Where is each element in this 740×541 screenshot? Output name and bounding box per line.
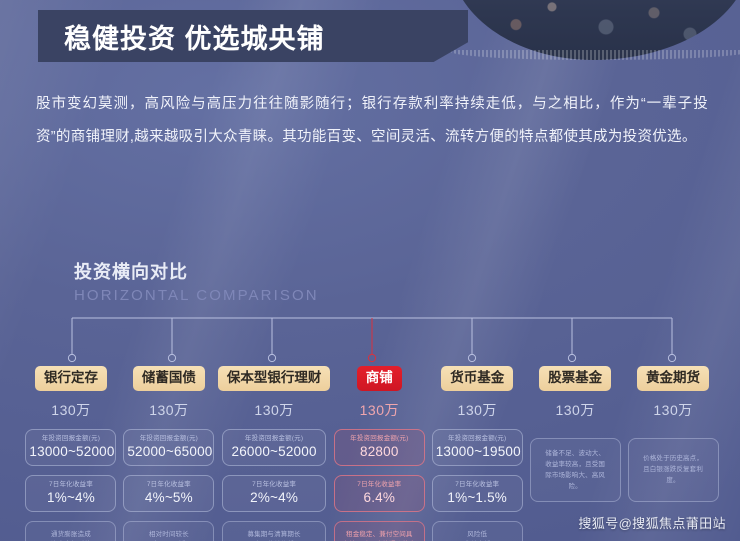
annual-return-value: 13000~52000: [29, 443, 112, 460]
yield-rate-value: 4%~5%: [127, 489, 210, 506]
note-text: 租金稳定、兼付空间具 有抗风险、高抗通胀能力: [343, 530, 416, 541]
connector-node: [468, 354, 475, 361]
connector-node: [68, 354, 75, 361]
yield-rate-label: 7日年化收益率: [338, 480, 421, 489]
comparison-column: 保本型银行理财130万年投资回报金额(元)26000~520007日年化收益率2…: [218, 366, 331, 541]
column-header-chip[interactable]: 储蓄国债: [133, 366, 205, 391]
comparison-column: 银行定存130万年投资回报金额(元)13000~520007日年化收益率1%~4…: [22, 366, 120, 541]
principal-amount: 130万: [360, 400, 399, 420]
annual-return-cell: 年投资回报金额(元)82800: [334, 429, 425, 466]
principal-amount: 130万: [254, 400, 293, 420]
principal-amount: 130万: [51, 400, 90, 420]
column-header-chip[interactable]: 货币基金: [441, 366, 513, 391]
note-box: 募集期与清算期长 实际收益偏低: [222, 521, 327, 541]
yield-rate-cell: 7日年化收益率6.4%: [334, 475, 425, 512]
note-text: 价格处于历史高点， 且白银涨跌反复套利 度。: [643, 453, 703, 486]
title-banner: 稳健投资 优选城央铺: [38, 10, 468, 62]
section-title-cn: 投资横向对比: [74, 258, 319, 284]
comparison-column: 储蓄国债130万年投资回报金额(元)52000~650007日年化收益率4%~5…: [120, 366, 218, 541]
note-text: 通货膨胀造成 资金变相贬值: [51, 530, 91, 541]
note-text: 储备不足、波动大、 收益率较高，且受国 际市场影响大、高风 险。: [545, 448, 605, 492]
annual-return-value: 82800: [338, 443, 421, 460]
connector-node: [568, 354, 575, 361]
yield-rate-value: 6.4%: [338, 489, 421, 506]
yield-rate-cell: 7日年化收益率4%~5%: [123, 475, 214, 512]
connector-node: [668, 354, 675, 361]
yield-rate-value: 2%~4%: [226, 489, 323, 506]
annual-return-label: 年投资回报金额(元): [338, 434, 421, 443]
principal-amount: 130万: [458, 400, 497, 420]
intro-paragraph: 股市变幻莫测，高风险与高压力往往随影随行；银行存款利率持续走低，与之相比，作为“…: [36, 88, 708, 154]
connector-node: [368, 354, 375, 361]
note-box: 相对时间较长 变现不灵活: [123, 521, 214, 541]
annual-return-label: 年投资回报金额(元): [226, 434, 323, 443]
principal-amount: 130万: [149, 400, 188, 420]
note-text: 募集期与清算期长 实际收益偏低: [247, 530, 300, 541]
comparison-column: 商铺130万年投资回报金额(元)828007日年化收益率6.4%租金稳定、兼付空…: [330, 366, 428, 541]
column-header-chip[interactable]: 保本型银行理财: [218, 366, 331, 391]
annual-return-value: 52000~65000: [127, 443, 210, 460]
note-box: 通货膨胀造成 资金变相贬值: [25, 521, 116, 541]
poster-page: 稳健投资 优选城央铺 股市变幻莫测，高风险与高压力往往随影随行；银行存款利率持续…: [0, 0, 740, 541]
column-header-chip[interactable]: 商铺: [357, 366, 402, 391]
annual-return-label: 年投资回报金额(元): [127, 434, 210, 443]
yield-rate-cell: 7日年化收益率1%~1.5%: [432, 475, 523, 512]
column-header-chip[interactable]: 黄金期货: [637, 366, 709, 391]
comparison-column: 货币基金130万年投资回报金额(元)13000~195007日年化收益率1%~1…: [428, 366, 526, 541]
annual-return-value: 26000~52000: [226, 443, 323, 460]
principal-amount: 130万: [653, 400, 692, 420]
annual-return-cell: 年投资回报金额(元)13000~52000: [25, 429, 116, 466]
annual-return-value: 13000~19500: [436, 443, 519, 460]
yield-rate-cell: 7日年化收益率1%~4%: [25, 475, 116, 512]
yield-rate-value: 1%~4%: [29, 489, 112, 506]
principal-amount: 130万: [555, 400, 594, 420]
yield-rate-value: 1%~1.5%: [436, 489, 519, 506]
column-header-chip[interactable]: 银行定存: [35, 366, 107, 391]
note-box: 储备不足、波动大、 收益率较高，且受国 际市场影响大、高风 险。: [530, 438, 621, 502]
yield-rate-label: 7日年化收益率: [127, 480, 210, 489]
note-text: 风险低 收益率低: [464, 530, 491, 541]
yield-rate-cell: 7日年化收益率2%~4%: [222, 475, 327, 512]
aerial-photo-fragment: [450, 0, 740, 60]
note-box: 租金稳定、兼付空间具 有抗风险、高抗通胀能力: [334, 521, 425, 541]
connector-node: [168, 354, 175, 361]
annual-return-label: 年投资回报金额(元): [436, 434, 519, 443]
page-title: 稳健投资 优选城央铺: [64, 17, 325, 56]
connector-node: [268, 354, 275, 361]
column-header-chip[interactable]: 股票基金: [539, 366, 611, 391]
section-heading: 投资横向对比 HORIZONTAL COMPARISON: [74, 258, 319, 304]
note-box: 风险低 收益率低: [432, 521, 523, 541]
annual-return-cell: 年投资回报金额(元)26000~52000: [222, 429, 327, 466]
annual-return-cell: 年投资回报金额(元)13000~19500: [432, 429, 523, 466]
annual-return-cell: 年投资回报金额(元)52000~65000: [123, 429, 214, 466]
annual-return-label: 年投资回报金额(元): [29, 434, 112, 443]
note-text: 相对时间较长 变现不灵活: [149, 530, 189, 541]
yield-rate-label: 7日年化收益率: [436, 480, 519, 489]
section-title-en: HORIZONTAL COMPARISON: [74, 287, 319, 304]
yield-rate-label: 7日年化收益率: [29, 480, 112, 489]
watermark: 搜狐号@搜狐焦点莆田站: [578, 513, 726, 532]
note-box: 价格处于历史高点， 且白银涨跌反复套利 度。: [628, 438, 719, 502]
connector-diagram: [0, 316, 740, 368]
yield-rate-label: 7日年化收益率: [226, 480, 323, 489]
